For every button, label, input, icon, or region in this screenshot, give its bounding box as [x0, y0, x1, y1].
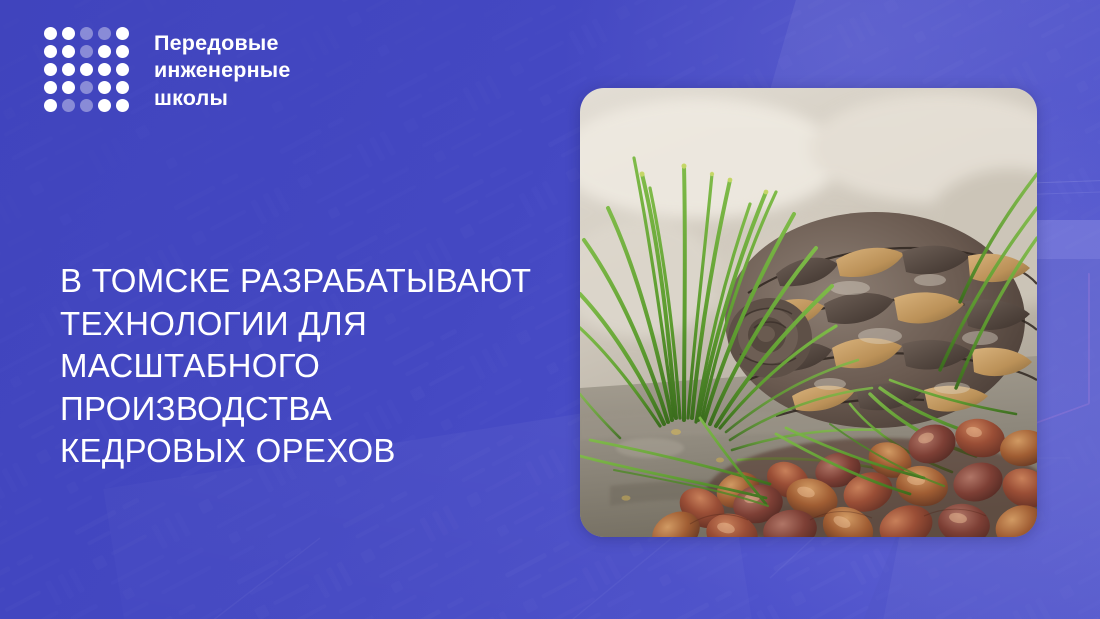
logo-dot [44, 81, 57, 94]
brand-logo[interactable]: Передовые инженерные школы [44, 27, 291, 115]
logo-dot [116, 99, 129, 112]
logo-dot [62, 63, 75, 76]
logo-dot [80, 81, 93, 94]
logo-dot [80, 63, 93, 76]
logo-dot [80, 99, 93, 112]
logo-dot [44, 45, 57, 58]
logo-dot [44, 99, 57, 112]
logo-dot [62, 27, 75, 40]
pine-cone-and-cedar-nuts-illustration [580, 88, 1037, 537]
logo-dot [80, 45, 93, 58]
logo-dot [44, 27, 57, 40]
presentation-slide: Передовые инженерные школы В Томске разр… [0, 0, 1100, 619]
logo-dot [62, 45, 75, 58]
logo-dot [80, 27, 93, 40]
dot-grid-icon [44, 27, 132, 115]
logo-dot [116, 45, 129, 58]
logo-dot [62, 81, 75, 94]
logo-dot [116, 81, 129, 94]
logo-dot [98, 45, 111, 58]
logo-dot [98, 63, 111, 76]
logo-dot [44, 63, 57, 76]
logo-dot [98, 27, 111, 40]
logo-dot [116, 63, 129, 76]
logo-dot [98, 81, 111, 94]
logo-dot [62, 99, 75, 112]
logo-dot [98, 99, 111, 112]
logo-dot [116, 27, 129, 40]
hero-photo [580, 88, 1037, 537]
page-title: В Томске разрабатывают технологии для ма… [60, 260, 580, 473]
logo-text: Передовые инженерные школы [154, 30, 291, 113]
